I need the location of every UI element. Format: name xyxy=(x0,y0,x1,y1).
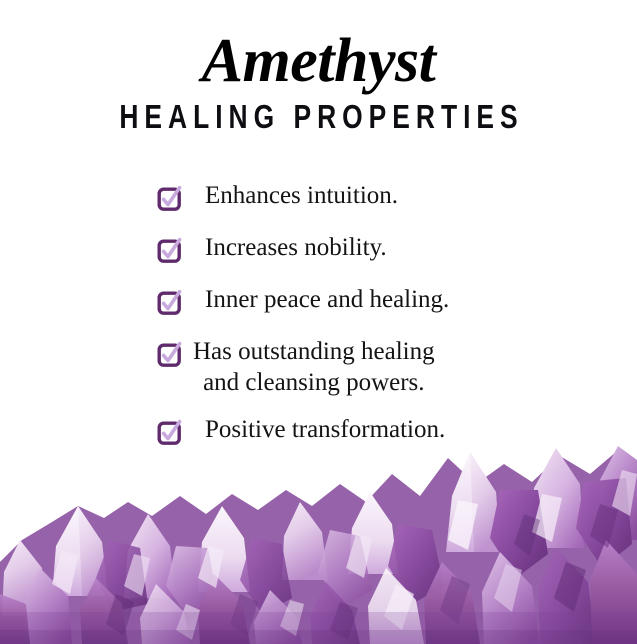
checkbox-checked-icon xyxy=(157,419,183,446)
list-item-label: Positive transformation. xyxy=(205,415,445,446)
amethyst-crystal-image xyxy=(0,444,637,644)
page-title: Amethyst xyxy=(0,0,637,92)
list-item: Inner peace and healing. xyxy=(0,285,637,316)
list-item-label: Has outstanding healing and cleansing po… xyxy=(193,337,435,398)
checkbox-checked-icon xyxy=(157,237,183,264)
list-item: Has outstanding healing and cleansing po… xyxy=(0,337,637,398)
list-item-label: Inner peace and healing. xyxy=(205,285,449,316)
poster-canvas: Amethyst HEALING PROPERTIES Enhances int… xyxy=(0,0,637,644)
page-subtitle: HEALING PROPERTIES xyxy=(64,92,574,133)
list-item: Enhances intuition. xyxy=(0,181,637,212)
list-item: Positive transformation. xyxy=(0,415,637,446)
checkbox-checked-icon xyxy=(157,289,183,316)
healing-properties-list: Enhances intuition. Increases nobility. … xyxy=(0,181,637,467)
list-item: Increases nobility. xyxy=(0,233,637,264)
list-item-label: Increases nobility. xyxy=(205,233,387,264)
checkbox-checked-icon xyxy=(157,341,183,368)
checkbox-checked-icon xyxy=(157,185,183,212)
list-item-label: Enhances intuition. xyxy=(205,181,398,212)
poster-header: Amethyst HEALING PROPERTIES xyxy=(0,0,637,133)
